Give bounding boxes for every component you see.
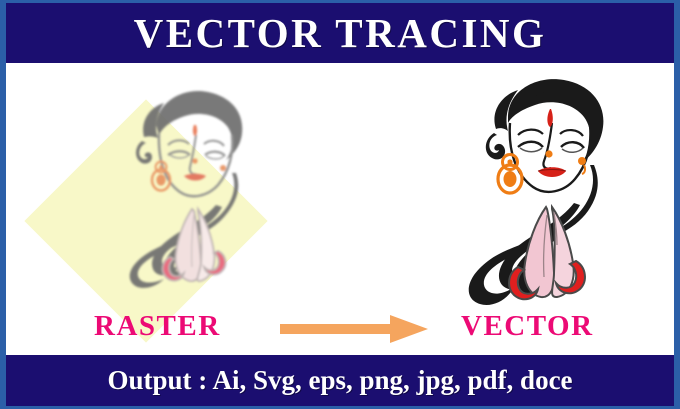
output-formats-text: Output : Ai, Svg, eps, png, jpg, pdf, do… <box>107 367 572 394</box>
label-raster: RASTER <box>94 312 221 341</box>
content-area: RASTER VECTOR <box>6 63 674 355</box>
page-title: VECTOR TRACING <box>134 13 547 54</box>
banner-stage: VECTOR TRACING <box>6 3 674 406</box>
footer-bar: Output : Ai, Svg, eps, png, jpg, pdf, do… <box>6 355 674 406</box>
vector-artwork <box>434 65 658 305</box>
label-vector: VECTOR <box>461 312 594 341</box>
header-bar: VECTOR TRACING <box>6 3 674 63</box>
raster-artwork <box>84 75 304 305</box>
banner-canvas: VECTOR TRACING <box>0 0 680 409</box>
arrow-right-icon <box>278 313 430 345</box>
